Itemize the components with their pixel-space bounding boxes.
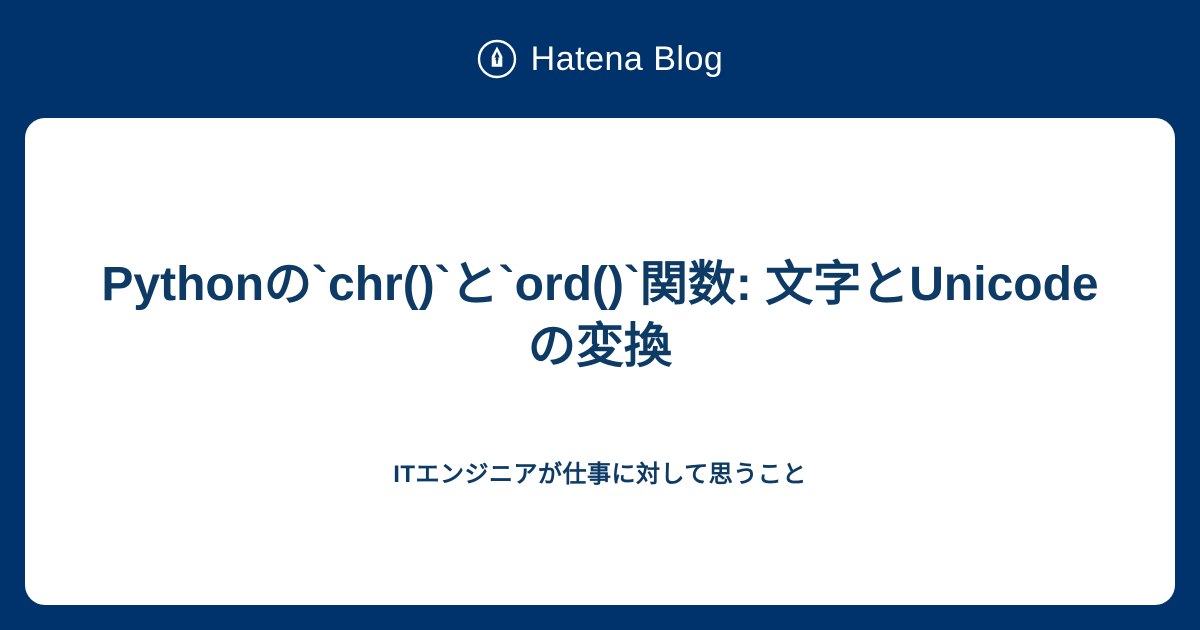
brand-name-label: Hatena Blog — [531, 42, 724, 76]
hatena-blog-logo[interactable] — [477, 39, 517, 79]
hatena-pen-nib-icon — [477, 39, 517, 79]
entry-card: Pythonの`chr()`と`ord()`関数: 文字とUnicodeの変換 … — [25, 118, 1175, 605]
entry-title: Pythonの`chr()`と`ord()`関数: 文字とUnicodeの変換 — [100, 254, 1100, 377]
blog-name-label: ITエンジニアが仕事に対して思うこと — [393, 459, 807, 490]
brand-header: Hatena Blog — [0, 0, 1200, 118]
